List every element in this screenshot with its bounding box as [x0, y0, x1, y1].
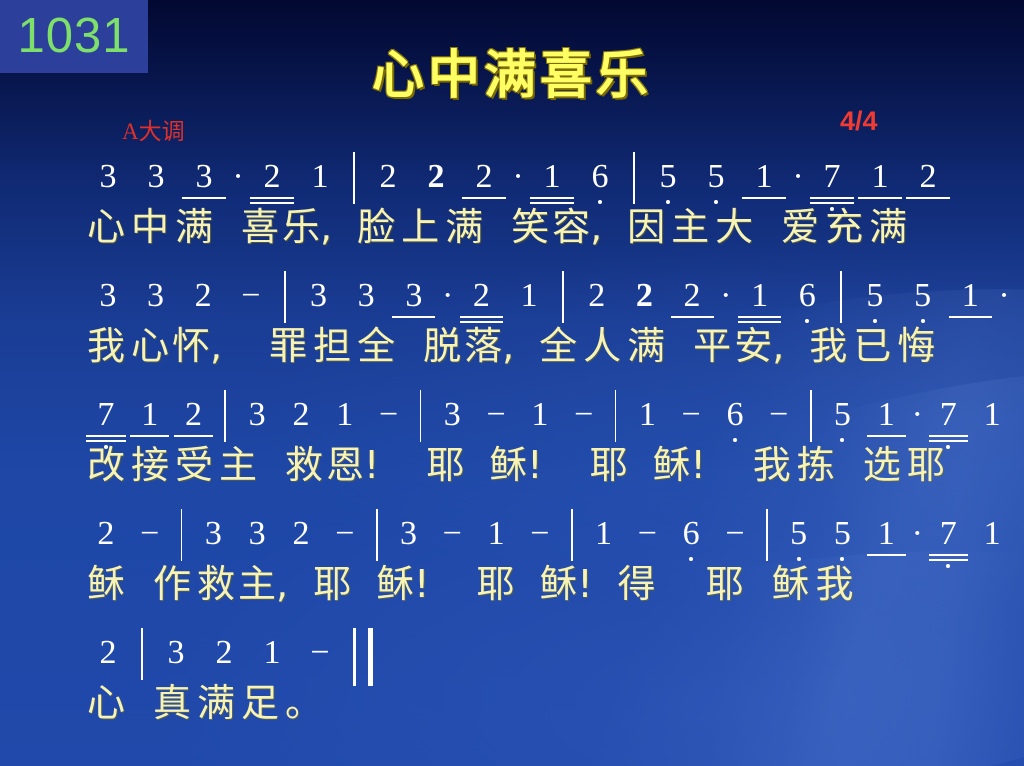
note-number: 3 [147, 279, 164, 313]
note-number: 3 [205, 517, 222, 551]
note-number: 3 [405, 279, 422, 313]
lyric-row: 我心怀,罪担全脱落,全人满平安,我已悔 [84, 327, 1014, 387]
octave-dot-low [783, 319, 831, 323]
lyric-syllable: 耶 [904, 446, 948, 484]
beam-underline [810, 197, 853, 199]
note-number: 5 [834, 517, 851, 551]
note-dash: − [518, 517, 562, 565]
note-5: 5 [851, 279, 899, 327]
lyric-syllable: 罪 [266, 327, 310, 365]
beam-underline [867, 435, 906, 437]
note-2: 2 [458, 279, 506, 327]
note-7: 7 [84, 398, 128, 446]
lyric-syllable: 担 [310, 327, 354, 365]
octave-dot-low [692, 200, 740, 204]
note-1: 1 [248, 636, 296, 684]
note-1: 1 [518, 398, 562, 446]
note-number: 6 [592, 160, 609, 194]
note-3: 3 [390, 279, 438, 327]
beam-underline [250, 202, 293, 204]
note-number: 5 [834, 398, 851, 432]
barline [562, 271, 564, 323]
note-number: 7 [824, 160, 841, 194]
octave-dot [946, 445, 950, 449]
note-1: 1 [625, 398, 669, 446]
lyric-syllable: 恩! [326, 446, 379, 484]
note-3: 3 [430, 398, 474, 446]
barline [353, 152, 355, 204]
octave-dot-low [926, 445, 970, 449]
note-1: 1 [474, 517, 518, 565]
note-number: 2 [100, 636, 117, 670]
lyric-syllable: 人 [580, 327, 624, 365]
lyric-syllable: 改 [84, 446, 128, 484]
note-1: 1 [740, 160, 788, 208]
note-1: 1 [505, 279, 553, 327]
note-number: 2 [636, 279, 653, 313]
note-number: 1 [336, 398, 353, 432]
note-2: 2 [84, 517, 128, 565]
note-number: 2 [292, 398, 309, 432]
beam-underline [949, 316, 992, 318]
barline [141, 628, 143, 680]
note-dash: − [367, 398, 411, 446]
lyric-syllable: 落, [464, 327, 514, 365]
octave-dot [689, 557, 693, 561]
note-number: 1 [595, 517, 612, 551]
lyric-syllable: 我 [813, 565, 857, 603]
lyric-syllable: 全 [354, 327, 398, 365]
barline [420, 390, 422, 442]
note-dash: − [430, 517, 474, 565]
note-number: 1 [872, 160, 889, 194]
beam-underline [86, 435, 125, 437]
note-2: 2 [172, 398, 216, 446]
note-5: 5 [777, 517, 821, 565]
lyric-syllable: 满 [194, 684, 238, 722]
note-dash: − [227, 279, 275, 327]
note-number: 2 [380, 160, 397, 194]
note-6: 6 [783, 279, 831, 327]
note-2: 2 [573, 279, 621, 327]
lyric-syllable: 中 [128, 208, 172, 246]
note-number: 2 [473, 279, 490, 313]
beam-underline [130, 435, 169, 437]
octave-dot-low [644, 200, 692, 204]
lyric-syllable: 主 [216, 446, 260, 484]
lyric-syllable: 稣! [652, 446, 705, 484]
note-number: 3 [148, 160, 165, 194]
lyric-syllable: 怀, [172, 327, 222, 365]
note-number: 5 [914, 279, 931, 313]
octave-dot [666, 200, 670, 204]
note-1: 1 [864, 517, 908, 565]
note-1: 1 [296, 160, 344, 208]
barline [766, 509, 768, 561]
lyric-syllable: 满 [624, 327, 668, 365]
note-5: 5 [644, 160, 692, 208]
note-6: 6 [669, 517, 713, 565]
note-2: 2 [668, 279, 716, 327]
octave-dot [840, 557, 844, 561]
note-number: 2 [216, 636, 233, 670]
note-number: 2 [684, 279, 701, 313]
octave-dot [733, 438, 737, 442]
final-barline [353, 628, 373, 686]
octave-dot-low [84, 445, 128, 449]
lyric-syllable: 稣! [539, 565, 592, 603]
barline [284, 271, 286, 323]
barline [840, 271, 842, 323]
note-number: 1 [962, 279, 979, 313]
octave-dot [921, 319, 925, 323]
beam-underline [460, 321, 503, 323]
octave-dot-low [669, 557, 713, 561]
octave-dot-low [777, 557, 821, 561]
note-number: 3 [358, 279, 375, 313]
lyric-syllable: 爱 [778, 208, 822, 246]
note-number: 3 [249, 398, 266, 432]
note-number: 6 [683, 517, 700, 551]
note-number: 2 [195, 279, 212, 313]
note-dash: − [296, 636, 344, 684]
note-3: 3 [387, 517, 431, 565]
octave-dot [714, 200, 718, 204]
note-1: 1 [323, 398, 367, 446]
lyric-syllable: 救 [194, 565, 238, 603]
beam-underline [738, 316, 781, 318]
octave-dot-low [808, 207, 856, 211]
octave-dot [598, 200, 602, 204]
note-number: 2 [588, 279, 605, 313]
note-2: 2 [412, 160, 460, 208]
note-1: 1 [736, 279, 784, 327]
lyric-syllable: 心 [128, 327, 172, 365]
note-number: 1 [141, 398, 158, 432]
note-5: 5 [692, 160, 740, 208]
barline [615, 390, 617, 442]
octave-dot [805, 319, 809, 323]
barline [224, 390, 226, 442]
beam-underline [671, 316, 714, 318]
note-row: 2−332−3−1−1−6−551·71 [84, 509, 1014, 565]
lyric-syllable: 安, [734, 327, 784, 365]
lyric-syllable: 稣 [769, 565, 813, 603]
lyric-syllable: 主, [238, 565, 288, 603]
lyric-syllable: 救 [282, 446, 326, 484]
note-2: 2 [179, 279, 227, 327]
lyric-syllable: 稣! [376, 565, 429, 603]
augmentation-dot: · [438, 279, 458, 327]
lyric-syllable: 因 [624, 208, 668, 246]
lyric-syllable: 耶 [310, 565, 354, 603]
beam-underline [738, 321, 781, 323]
lyric-syllable: 选 [860, 446, 904, 484]
note-number: 2 [920, 160, 937, 194]
note-row: 712321−3−1−1−6−51·71 [84, 390, 1014, 446]
music-score: 333·21222·16551·712心中满喜乐,脸上满笑容,因主大爱充满332… [84, 152, 1014, 747]
note-dash: − [669, 398, 713, 446]
beam-underline [810, 202, 853, 204]
note-number: 1 [984, 517, 1001, 551]
note-number: 1 [751, 279, 768, 313]
note-dash: − [474, 398, 518, 446]
augmentation-dot: · [908, 517, 926, 565]
octave-dot-low [713, 438, 757, 442]
score-system: 333·21222·16551·712心中满喜乐,脸上满笑容,因主大爱充满 [84, 152, 1014, 268]
lyric-syllable: 充 [822, 208, 866, 246]
augmentation-dot: · [908, 398, 926, 446]
note-2: 2 [279, 398, 323, 446]
octave-dot-low [821, 438, 865, 442]
barline [633, 152, 635, 204]
note-number: 7 [97, 398, 114, 432]
note-number: 3 [249, 517, 266, 551]
lyric-syllable: 满 [442, 208, 486, 246]
note-1: 1 [970, 517, 1014, 565]
score-system: 712321−3−1−1−6−51·71改接受主救恩!耶稣!耶稣!我拣选耶 [84, 390, 1014, 506]
note-row: 333·21222·16551·712 [84, 152, 1014, 208]
lyric-syllable: 。 [282, 684, 326, 722]
note-number: 5 [790, 517, 807, 551]
note-number: 1 [488, 517, 505, 551]
lyric-row: 心中满喜乐,脸上满笑容,因主大爱充满 [84, 208, 1014, 268]
note-7: 7 [808, 160, 856, 208]
note-1: 1 [970, 398, 1014, 446]
note-dash: − [625, 517, 669, 565]
note-1: 1 [582, 517, 626, 565]
beam-underline [929, 554, 968, 556]
beam-underline [86, 440, 125, 442]
score-system: 2321−心真满足。 [84, 628, 1014, 744]
note-dash: − [713, 517, 757, 565]
barline [181, 509, 183, 561]
octave-dot [873, 319, 877, 323]
lyric-syllable: 耶 [703, 565, 747, 603]
note-number: 6 [726, 398, 743, 432]
beam-underline [867, 554, 906, 556]
lyric-syllable: 稣! [489, 446, 542, 484]
lyric-syllable: 受 [172, 446, 216, 484]
barline [376, 509, 378, 561]
lyric-syllable: 全 [536, 327, 580, 365]
note-2: 2 [904, 160, 952, 208]
octave-dot [840, 438, 844, 442]
barline [810, 390, 812, 442]
note-row: 2321− [84, 628, 1014, 684]
note-2: 2 [621, 279, 669, 327]
lyric-syllable: 心 [84, 208, 128, 246]
lyric-syllable: 我 [806, 327, 850, 365]
lyric-syllable: 满 [172, 208, 216, 246]
note-number: 3 [99, 279, 116, 313]
lyric-syllable: 耶 [586, 446, 630, 484]
lyric-syllable: 平 [690, 327, 734, 365]
note-number: 7 [940, 398, 957, 432]
note-number: 2 [476, 160, 493, 194]
note-number: 2 [428, 160, 445, 194]
lyric-row: 稣作救主,耶稣!耶稣!得耶稣我 [84, 565, 1014, 625]
beam-underline [462, 197, 505, 199]
lyric-syllable: 主 [668, 208, 712, 246]
note-3: 3 [235, 517, 279, 565]
lyric-syllable: 乐, [282, 208, 332, 246]
augmentation-dot: · [788, 160, 808, 208]
lyric-syllable: 拣 [794, 446, 838, 484]
note-number: 1 [312, 160, 329, 194]
note-3: 3 [342, 279, 390, 327]
beam-underline [392, 316, 435, 318]
lyric-syllable: 已 [850, 327, 894, 365]
note-6: 6 [713, 398, 757, 446]
barline [571, 509, 573, 561]
lyric-syllable: 接 [128, 446, 172, 484]
note-dash: − [562, 398, 606, 446]
note-number: 3 [168, 636, 185, 670]
beam-underline [858, 197, 901, 199]
note-number: 1 [264, 636, 281, 670]
lyric-syllable: 得 [615, 565, 659, 603]
note-1: 1 [946, 279, 994, 327]
note-number: 3 [100, 160, 117, 194]
note-number: 2 [97, 517, 114, 551]
note-3: 3 [132, 279, 180, 327]
octave-dot-low [821, 557, 865, 561]
lyric-syllable: 上 [398, 208, 442, 246]
slide-canvas: 1031 心中满喜乐 A大调 4/4 333·21222·16551·712心中… [0, 0, 1024, 766]
lyric-syllable: 我 [750, 446, 794, 484]
note-number: 2 [185, 398, 202, 432]
lyric-row: 心真满足。 [84, 684, 1014, 744]
note-number: 6 [799, 279, 816, 313]
lyric-syllable: 喜 [238, 208, 282, 246]
note-2: 2 [460, 160, 508, 208]
augmentation-dot: · [716, 279, 736, 327]
note-7: 7 [926, 398, 970, 446]
note-number: 2 [292, 517, 309, 551]
note-number: 7 [940, 517, 957, 551]
note-dash: − [128, 517, 172, 565]
beam-underline [530, 202, 573, 204]
note-dash: − [757, 398, 801, 446]
note-2: 2 [364, 160, 412, 208]
score-system: 2−332−3−1−1−6−551·71稣作救主,耶稣!耶稣!得耶稣我 [84, 509, 1014, 625]
note-7: 7 [926, 517, 970, 565]
note-3: 3 [191, 517, 235, 565]
lyric-syllable: 悔 [894, 327, 938, 365]
beam-underline [530, 197, 573, 199]
note-3: 3 [84, 160, 132, 208]
beam-underline [742, 197, 785, 199]
note-3: 3 [295, 279, 343, 327]
note-5: 5 [899, 279, 947, 327]
note-3: 3 [152, 636, 200, 684]
note-3: 3 [180, 160, 228, 208]
note-1: 1 [864, 398, 908, 446]
lyric-syllable: 稣 [84, 565, 128, 603]
note-5: 5 [821, 517, 865, 565]
lyric-syllable: 脱 [420, 327, 464, 365]
note-number: 3 [444, 398, 461, 432]
lyric-syllable: 真 [150, 684, 194, 722]
note-2: 2 [84, 636, 132, 684]
beam-underline [250, 197, 293, 199]
lyric-syllable: 足 [238, 684, 282, 722]
beam-underline [929, 559, 968, 561]
time-signature-label: 4/4 [840, 106, 878, 137]
lyric-syllable: 作 [150, 565, 194, 603]
note-6: 6 [576, 160, 624, 208]
note-5: 5 [821, 398, 865, 446]
beam-underline [906, 197, 949, 199]
note-3: 3 [84, 279, 132, 327]
beam-underline [929, 440, 968, 442]
note-1: 1 [128, 398, 172, 446]
key-signature-label: A大调 [122, 112, 185, 146]
augmentation-dot: · [994, 279, 1014, 327]
lyric-syllable: 笑 [508, 208, 552, 246]
octave-dot-low [926, 564, 970, 568]
lyric-syllable: 耶 [473, 565, 517, 603]
lyric-syllable: 心 [84, 684, 128, 722]
lyric-row: 改接受主救恩!耶稣!耶稣!我拣选耶 [84, 446, 1014, 506]
page-title: 心中满喜乐 [0, 33, 1024, 108]
lyric-syllable: 我 [84, 327, 128, 365]
note-number: 1 [531, 398, 548, 432]
beam-underline [460, 316, 503, 318]
note-2: 2 [279, 517, 323, 565]
note-dash: − [323, 517, 367, 565]
note-1: 1 [528, 160, 576, 208]
note-number: 2 [264, 160, 281, 194]
augmentation-dot: · [508, 160, 528, 208]
octave-dot [797, 557, 801, 561]
note-number: 1 [756, 160, 773, 194]
beam-underline [174, 435, 213, 437]
note-number: 3 [196, 160, 213, 194]
note-number: 3 [310, 279, 327, 313]
note-number: 3 [400, 517, 417, 551]
octave-dot [830, 207, 834, 211]
lyric-syllable: 容, [552, 208, 602, 246]
octave-dot [104, 445, 108, 449]
beam-underline [929, 435, 968, 437]
note-number: 1 [639, 398, 656, 432]
octave-dot [946, 564, 950, 568]
note-2: 2 [248, 160, 296, 208]
octave-dot-low [899, 319, 947, 323]
note-number: 1 [878, 517, 895, 551]
note-number: 1 [984, 398, 1001, 432]
lyric-syllable: 大 [712, 208, 756, 246]
note-3: 3 [132, 160, 180, 208]
note-number: 1 [521, 279, 538, 313]
note-number: 1 [544, 160, 561, 194]
note-number: 5 [866, 279, 883, 313]
note-row: 332−333·21222·16551· [84, 271, 1014, 327]
note-number: 5 [708, 160, 725, 194]
score-system: 332−333·21222·16551·我心怀,罪担全脱落,全人满平安,我已悔 [84, 271, 1014, 387]
beam-underline [182, 197, 225, 199]
octave-dot-low [851, 319, 899, 323]
octave-dot-low [576, 200, 624, 204]
note-3: 3 [235, 398, 279, 446]
augmentation-dot: · [228, 160, 248, 208]
lyric-syllable: 耶 [423, 446, 467, 484]
lyric-syllable: 脸 [354, 208, 398, 246]
note-number: 1 [878, 398, 895, 432]
lyric-syllable: 满 [866, 208, 910, 246]
